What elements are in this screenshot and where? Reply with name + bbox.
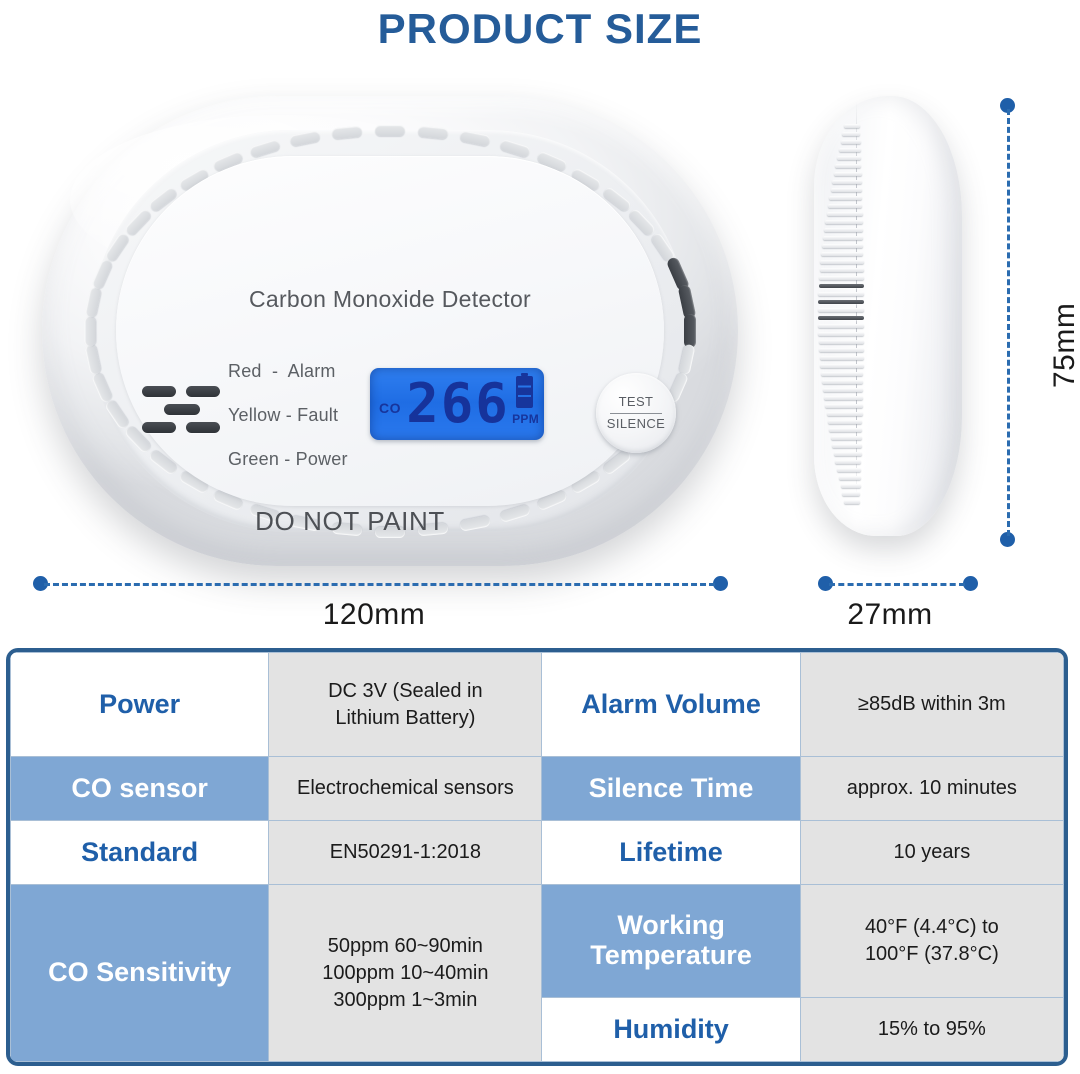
table-row: CO Sensitivity 50ppm 60~90min 100ppm 10~… <box>11 885 1064 998</box>
side-vent-slat <box>820 268 864 272</box>
side-vent-slat <box>837 156 861 160</box>
vent-slot <box>332 125 363 139</box>
test-button-label: TEST <box>619 393 654 412</box>
side-vent-slat <box>835 460 861 464</box>
side-vent-slat <box>844 500 860 504</box>
vent-slot <box>375 125 405 136</box>
spec-key-power: Power <box>11 653 269 757</box>
spec-key-standard: Standard <box>11 821 269 885</box>
side-vent-slat <box>822 380 863 384</box>
side-vent-slat <box>828 204 863 208</box>
side-vent-slat <box>822 244 863 248</box>
side-vent-slat <box>823 236 863 240</box>
detector-side-view <box>790 78 970 578</box>
detector-front-view: Carbon Monoxide Detector Red - Alarm Yel… <box>20 78 760 578</box>
side-vent-slat <box>819 340 864 344</box>
side-vent-slat <box>829 196 862 200</box>
side-vent-slat <box>831 436 862 440</box>
side-vent-slat <box>839 148 861 152</box>
spec-value-working-temperature: 40°F (4.4°C) to 100°F (37.8°C) <box>800 885 1063 998</box>
test-silence-button[interactable]: TEST SILENCE <box>596 373 676 453</box>
spec-key-humidity: Humidity <box>542 998 800 1062</box>
spec-value-silence-time: approx. 10 minutes <box>800 757 1063 821</box>
dim-label-depth: 27mm <box>790 598 990 632</box>
side-vent-slat <box>837 468 861 472</box>
side-vent-slat <box>818 308 864 312</box>
dim-dot-depth-right <box>963 576 978 591</box>
lcd-reading: 266 <box>402 370 514 438</box>
side-vent-slat <box>818 332 864 336</box>
side-vent-slat <box>841 484 861 488</box>
spec-key-working-temperature: Working Temperature <box>542 885 800 998</box>
spec-key-alarm-volume: Alarm Volume <box>542 653 800 757</box>
side-vent-slat <box>842 132 860 136</box>
side-vent-slat <box>828 420 863 424</box>
dim-label-width: 120mm <box>0 598 748 632</box>
side-vent-slat <box>820 364 863 368</box>
detector-faceplate <box>116 156 664 506</box>
vent-slot <box>417 125 448 139</box>
spec-key-lifetime: Lifetime <box>542 821 800 885</box>
silence-button-label: SILENCE <box>607 415 665 434</box>
table-row: CO sensor Electrochemical sensors Silenc… <box>11 757 1064 821</box>
vent-slot-dark <box>684 314 696 348</box>
side-vent-slat <box>831 188 862 192</box>
side-vent-slat <box>834 172 862 176</box>
side-vent-slat <box>842 492 860 496</box>
side-vent-slat <box>819 276 864 280</box>
dim-label-height: 75mm <box>1048 303 1080 388</box>
spec-value-co-sensor: Electrochemical sensors <box>269 757 542 821</box>
side-vent-slats <box>814 124 870 510</box>
side-vent-slat <box>835 164 861 168</box>
lcd-display: CO 266 PPM <box>370 368 544 440</box>
do-not-paint-label: DO NOT PAINT <box>20 506 680 537</box>
product-illustration: Carbon Monoxide Detector Red - Alarm Yel… <box>0 58 1080 640</box>
button-divider <box>610 413 662 414</box>
spec-key-co-sensitivity: CO Sensitivity <box>11 885 269 1062</box>
side-vent-slat <box>824 228 863 232</box>
spec-value-humidity: 15% to 95% <box>800 998 1063 1062</box>
side-vent-slat <box>819 284 864 288</box>
side-vent-slat <box>821 372 863 376</box>
spec-value-lifetime: 10 years <box>800 821 1063 885</box>
spec-key-co-sensor: CO sensor <box>11 757 269 821</box>
side-vent-slat <box>825 220 863 224</box>
vent-slot <box>85 316 96 346</box>
side-vent-slat <box>829 428 862 432</box>
dim-line-depth <box>829 583 965 586</box>
speaker-grille-icon <box>142 378 228 440</box>
side-vent-slat <box>844 124 860 128</box>
dim-line-width <box>44 583 715 586</box>
dim-line-height <box>1007 109 1010 536</box>
side-vent-slat <box>821 252 863 256</box>
side-vent-slat <box>818 324 864 328</box>
side-vent-slat <box>841 140 861 144</box>
side-vent-slat <box>818 292 864 296</box>
side-vent-slat <box>818 300 864 304</box>
side-vent-slat <box>827 212 863 216</box>
lcd-gas-label: CO <box>379 400 401 416</box>
side-vent-slat <box>818 316 864 320</box>
battery-icon <box>516 376 533 408</box>
spec-value-co-sensitivity: 50ppm 60~90min 100ppm 10~40min 300ppm 1~… <box>269 885 542 1062</box>
side-vent-slat <box>834 452 862 456</box>
dim-dot-width-right <box>713 576 728 591</box>
side-vent-slat <box>824 396 863 400</box>
led-legend-yellow: Yellow - Fault <box>228 405 338 426</box>
side-vent-slat <box>825 404 863 408</box>
table-row: Standard EN50291-1:2018 Lifetime 10 year… <box>11 821 1064 885</box>
spec-value-standard: EN50291-1:2018 <box>269 821 542 885</box>
product-name-label: Carbon Monoxide Detector <box>20 286 760 313</box>
side-vent-slat <box>832 180 862 184</box>
led-legend-red: Red - Alarm <box>228 361 336 382</box>
side-vent-slat <box>819 348 864 352</box>
spec-key-silence-time: Silence Time <box>542 757 800 821</box>
page-title: PRODUCT SIZE <box>0 0 1080 58</box>
side-vent-slat <box>820 356 864 360</box>
side-vent-slat <box>820 260 863 264</box>
table-row: Power DC 3V (Sealed in Lithium Battery) … <box>11 653 1064 757</box>
led-legend-green: Green - Power <box>228 449 348 470</box>
side-vent-slat <box>839 476 861 480</box>
lcd-unit-label: PPM <box>512 412 539 426</box>
spec-value-alarm-volume: ≥85dB within 3m <box>800 653 1063 757</box>
spec-value-power: DC 3V (Sealed in Lithium Battery) <box>269 653 542 757</box>
side-vent-slat <box>823 388 863 392</box>
specification-table: Power DC 3V (Sealed in Lithium Battery) … <box>6 648 1068 1066</box>
side-vent-slat <box>832 444 862 448</box>
side-vent-slat <box>827 412 863 416</box>
